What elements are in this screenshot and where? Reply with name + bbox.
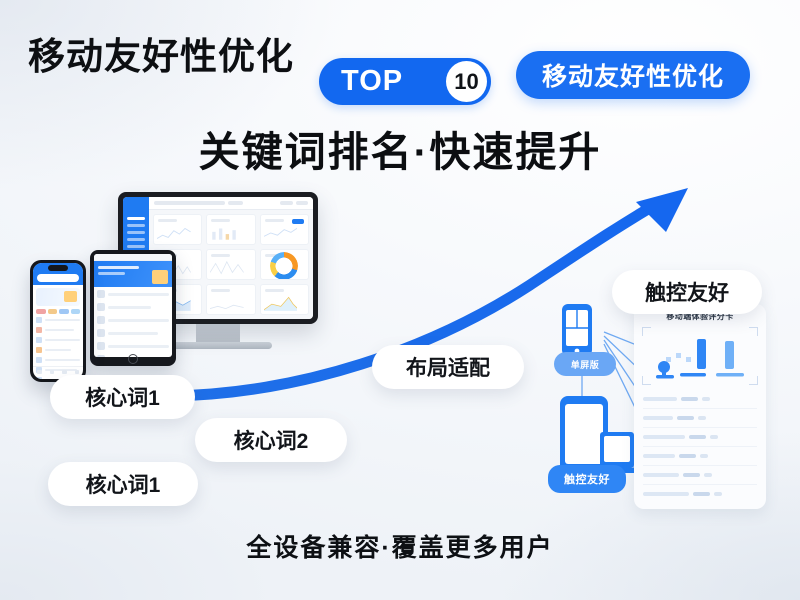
score-card-chart [642, 327, 758, 385]
list-item [36, 317, 80, 323]
list-item [36, 347, 80, 353]
monitor-foot [164, 342, 272, 349]
keyword-pill-3: 核心词1 [48, 462, 198, 506]
phone-screen [33, 263, 83, 379]
table-row [643, 428, 757, 447]
keyword-pill-2: 核心词2 [195, 418, 347, 462]
mini-pill-single-screen: 单屏版 [554, 352, 616, 376]
header-tag-pill: 移动友好性优化 [516, 51, 750, 99]
donut-chart [270, 252, 298, 280]
score-bar-chart [642, 327, 758, 385]
tablet-home-button [128, 354, 138, 364]
list-item [97, 329, 169, 337]
tablet-bezel [90, 250, 176, 366]
tablet-list [94, 287, 172, 357]
table-row [643, 409, 757, 428]
monitor-neck [196, 323, 240, 343]
list-item [97, 290, 169, 298]
dashboard-card [260, 214, 309, 245]
page-subtitle: 关键词排名·快速提升 [0, 118, 800, 178]
dashboard-card [153, 214, 202, 245]
keyword-pill-1: 核心词1 [50, 375, 195, 419]
phone-search-bar [37, 274, 79, 282]
tablet-device [90, 250, 176, 366]
list-item [97, 316, 169, 324]
list-item [36, 327, 80, 333]
top-badge-number: 10 [446, 61, 487, 102]
poster-canvas: 移动友好性优化 TOP 10 移动友好性优化 关键词排名·快速提升 [0, 0, 800, 600]
mobile-experience-infographic: 单屏版 触控友好 移动端体验评分卡 [548, 300, 770, 512]
list-item [97, 303, 169, 311]
list-item [97, 342, 169, 350]
phone-tag-row [33, 309, 83, 317]
list-item [36, 357, 80, 363]
table-row [643, 485, 757, 503]
touch-friendly-pill: 触控友好 [612, 270, 762, 314]
tablet-screen [94, 254, 172, 357]
top-badge-word: TOP [341, 67, 403, 96]
list-item [36, 337, 80, 343]
phone-promo-card [36, 288, 80, 306]
page-title: 移动友好性优化 [28, 26, 294, 80]
mini-pill-touch-friendly: 触控友好 [548, 465, 626, 493]
dashboard-card [206, 284, 255, 315]
dashboard-card [206, 249, 255, 280]
dashboard-card [206, 214, 255, 245]
phone-notch [48, 265, 68, 271]
layout-adapt-pill: 布局适配 [372, 345, 524, 389]
table-row [643, 466, 757, 485]
dashboard-card [260, 284, 309, 315]
phone-device [30, 260, 86, 382]
dashboard-donut-card [260, 249, 309, 280]
top-rank-badge: TOP 10 [319, 58, 491, 105]
table-row [643, 390, 757, 409]
header-tag-pill-label: 移动友好性优化 [542, 57, 724, 93]
tablet-statusbar [94, 254, 172, 261]
footer-tagline: 全设备兼容·覆盖更多用户 [0, 528, 800, 564]
phone-bezel [30, 260, 86, 382]
table-row [643, 447, 757, 466]
score-card-rows [634, 388, 766, 505]
dashboard-topbar [149, 197, 313, 210]
tablet-hero-banner [94, 261, 172, 287]
mobile-score-card: 移动端体验评分卡 [634, 304, 766, 509]
